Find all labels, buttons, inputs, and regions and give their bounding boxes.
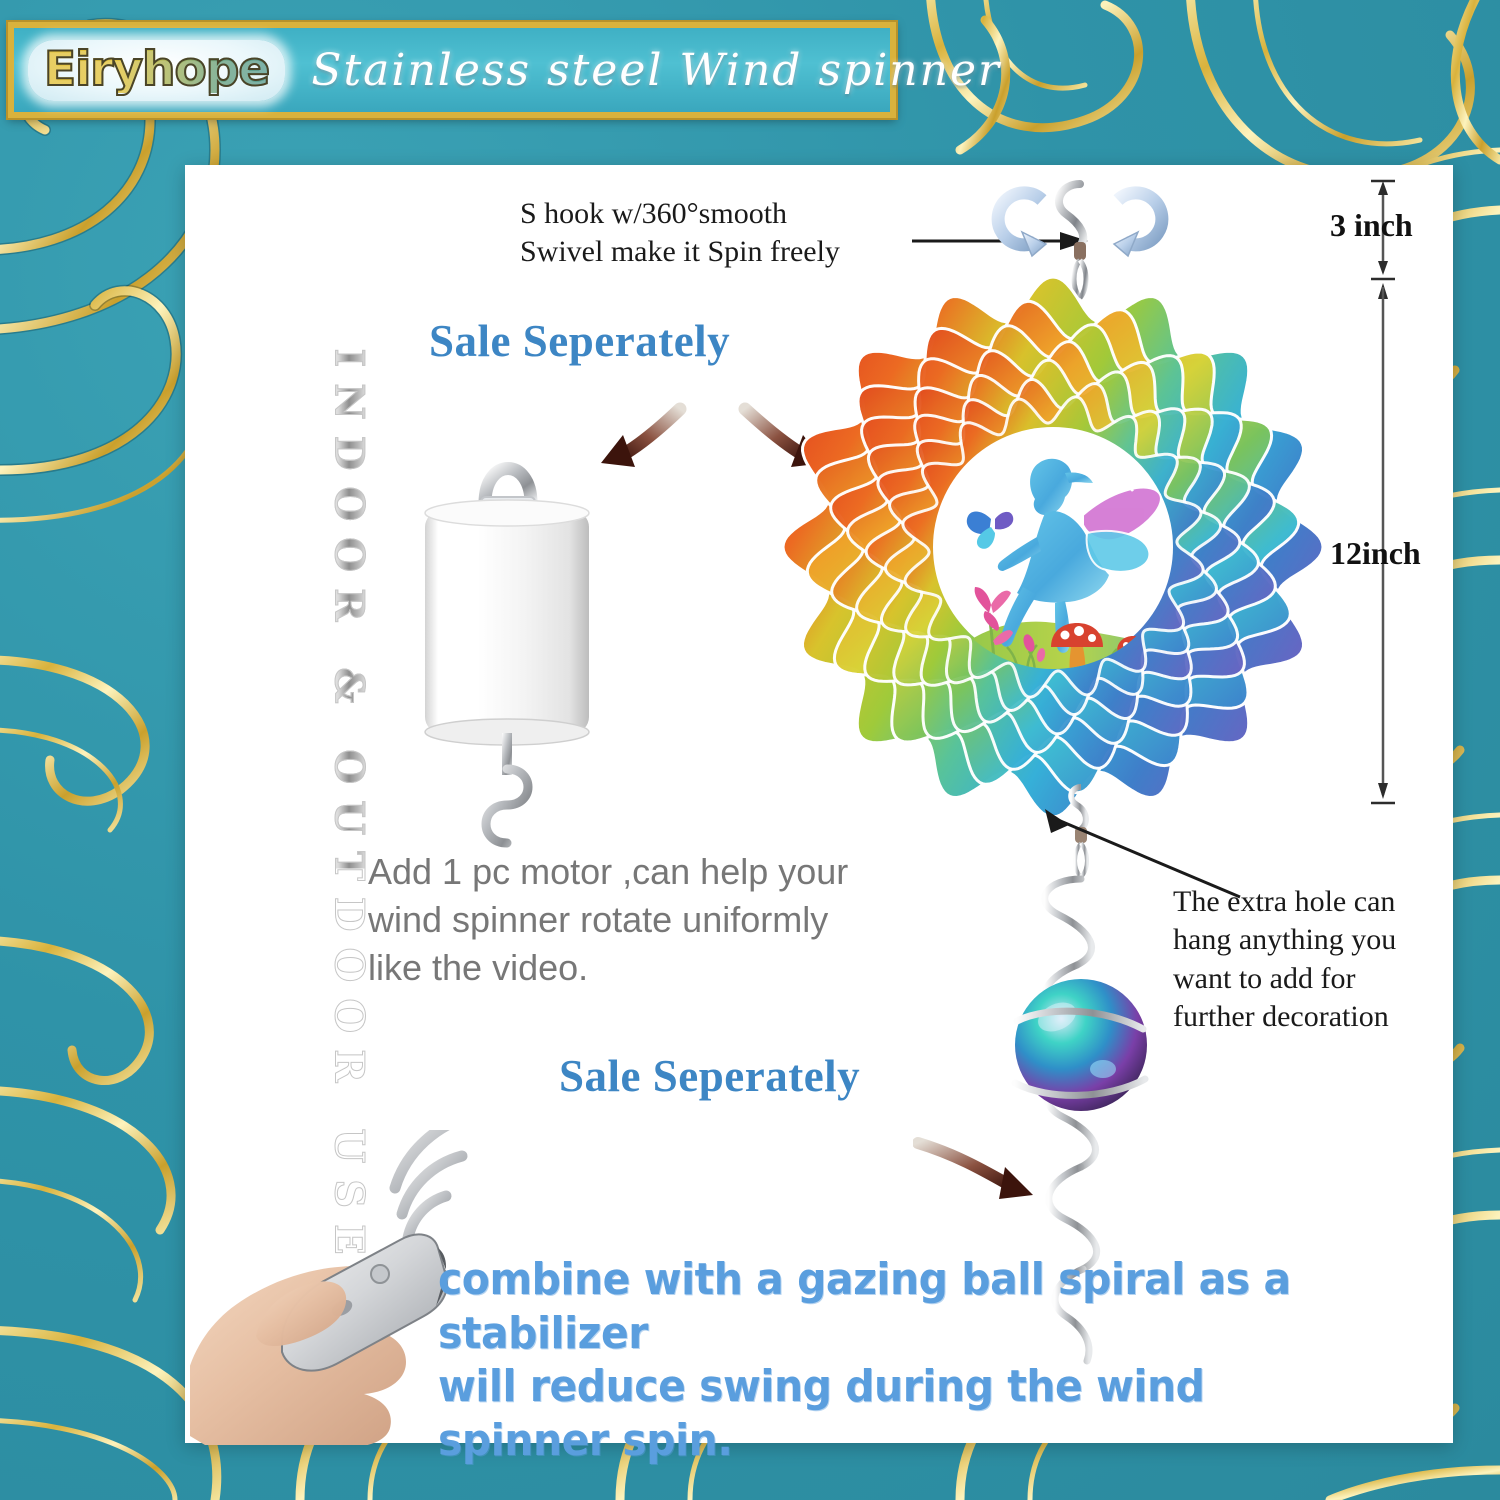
extra-hole-note-line4: further decoration [1173,998,1473,1036]
brand-logo-text: Eiryhope [44,46,269,93]
brown-arrow-left [601,409,680,467]
motor-description: Add 1 pc motor ,can help your wind spinn… [368,848,928,992]
brand-logo: Eiryhope [28,40,285,101]
extra-hole-note-line2: hang anything you [1173,921,1473,959]
motor-description-line1: Add 1 pc motor ,can help your [368,848,928,896]
banner-title: Stainless steel Wind spinner [311,45,1001,96]
dimension-bars [1361,177,1401,817]
rotate-cw-icon [1114,193,1162,256]
motor-description-line2: wind spinner rotate uniformly [368,896,928,944]
dimension-label-top: 3 inch [1330,207,1413,244]
motor-description-line3: like the video. [368,944,928,992]
motor-illustration [407,433,607,853]
wifi-signal-icon [395,1130,476,1238]
bottom-headline: combine with a gazing ball spiral as a s… [438,1253,1377,1468]
extra-hole-note-line1: The extra hole can [1173,883,1473,921]
wind-spinner-illustration [783,275,1323,815]
bottom-headline-line1: combine with a gazing ball spiral as a s… [438,1253,1377,1360]
s-hook-note-line2: Swivel make it Spin freely [520,233,920,271]
header-banner: Eiryhope Stainless steel Wind spinner [8,22,896,118]
s-hook-note: S hook w/360°smooth Swivel make it Spin … [520,195,920,272]
bottom-headline-line2: will reduce swing during the wind spinne… [438,1360,1377,1467]
extra-hole-note: The extra hole can hang anything you wan… [1173,883,1473,1037]
sale-separately-top: Sale Seperately [429,315,730,367]
sale-separately-bottom: Sale Seperately [559,1050,860,1102]
rotate-ccw-icon [998,193,1046,256]
s-hook-note-line1: S hook w/360°smooth [520,195,920,233]
extra-hole-note-line3: want to add for [1173,960,1473,998]
dimension-label-main: 12inch [1330,535,1421,572]
content-card: INDOOR & OUTDOOR USE S hook w/360°smooth… [185,165,1453,1443]
vertical-side-text: INDOOR & OUTDOOR USE [326,349,373,869]
